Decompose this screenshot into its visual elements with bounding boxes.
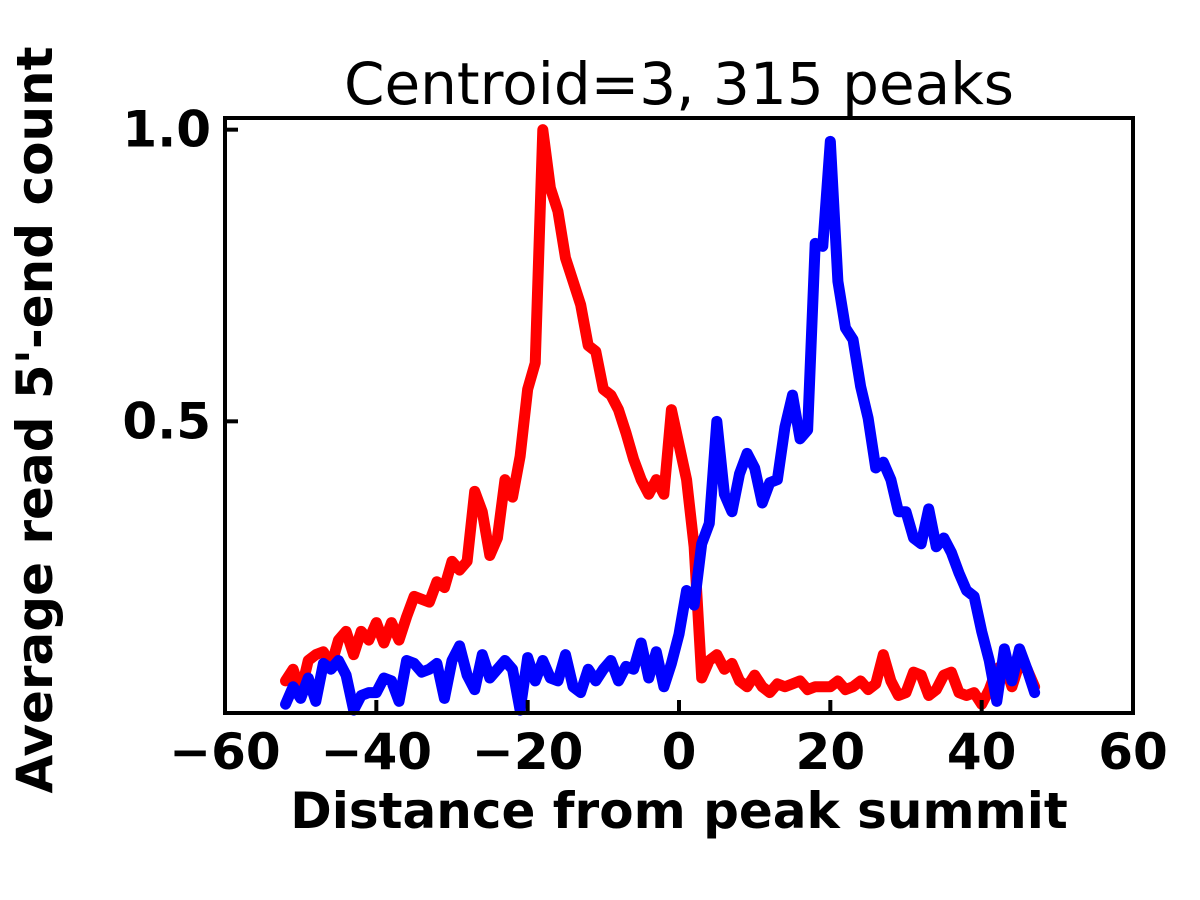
y-axis-title: Average read 5'-end count bbox=[6, 46, 64, 793]
x-tick-label--40: −40 bbox=[321, 723, 432, 781]
x-tick-label-60: 60 bbox=[1098, 723, 1168, 781]
y-tick-label-group: 0.51.0 bbox=[122, 101, 211, 451]
chart-canvas: −60−40−200204060 0.51.0 Centroid=3, 315 … bbox=[0, 0, 1200, 900]
x-tick-label-group: −60−40−200204060 bbox=[169, 723, 1168, 781]
x-tick-label-40: 40 bbox=[947, 723, 1017, 781]
figure-container: −60−40−200204060 0.51.0 Centroid=3, 315 … bbox=[0, 0, 1200, 900]
y-tick-label-0.5: 0.5 bbox=[122, 392, 211, 450]
x-tick-label-20: 20 bbox=[796, 723, 866, 781]
x-tick-label--20: −20 bbox=[472, 723, 583, 781]
y-tick-label-1: 1.0 bbox=[122, 101, 211, 159]
chart-title: Centroid=3, 315 peaks bbox=[344, 50, 1014, 118]
x-axis-title: Distance from peak summit bbox=[290, 782, 1068, 840]
x-tick-label--60: −60 bbox=[169, 723, 280, 781]
x-tick-label-0: 0 bbox=[662, 723, 697, 781]
